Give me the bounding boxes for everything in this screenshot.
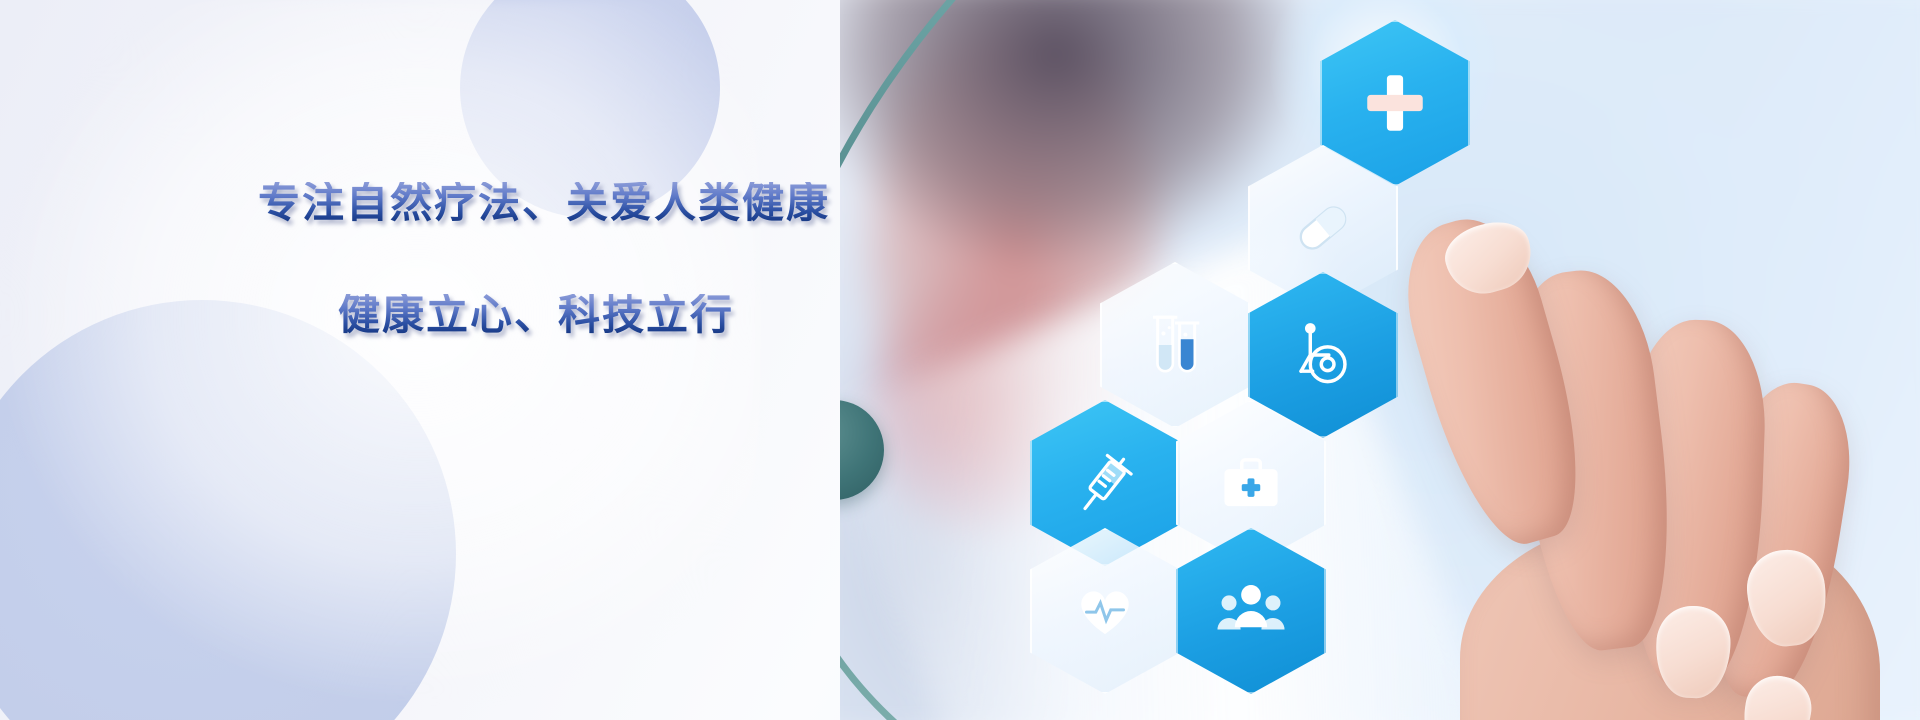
heart-care-icon — [1068, 574, 1142, 648]
headline-line-1: 专注自然疗法、关爱人类健康 — [258, 182, 878, 224]
first-aid-kit-icon — [1214, 446, 1288, 520]
medical-cross-icon — [1358, 66, 1432, 140]
background-haze — [0, 0, 760, 700]
headline-line-2: 健康立心、科技立行 — [338, 294, 878, 336]
wheelchair-icon — [1286, 318, 1360, 392]
hexagon-icon-cluster — [990, 0, 1610, 720]
syringe-icon — [1068, 446, 1142, 520]
headline-block: 专注自然疗法、关爱人类健康 健康立心、科技立行 — [258, 182, 878, 336]
hero-banner: 专注自然疗法、关爱人类健康 健康立心、科技立行 — [0, 0, 1920, 720]
hex-heart-care[interactable] — [1030, 528, 1180, 694]
photo-panel — [840, 0, 1920, 720]
pill-capsule-icon — [1286, 191, 1360, 265]
hex-people-group[interactable] — [1176, 528, 1326, 694]
people-group-icon — [1214, 574, 1288, 648]
test-tubes-icon — [1138, 308, 1212, 382]
hex-test-tubes[interactable] — [1100, 262, 1250, 428]
